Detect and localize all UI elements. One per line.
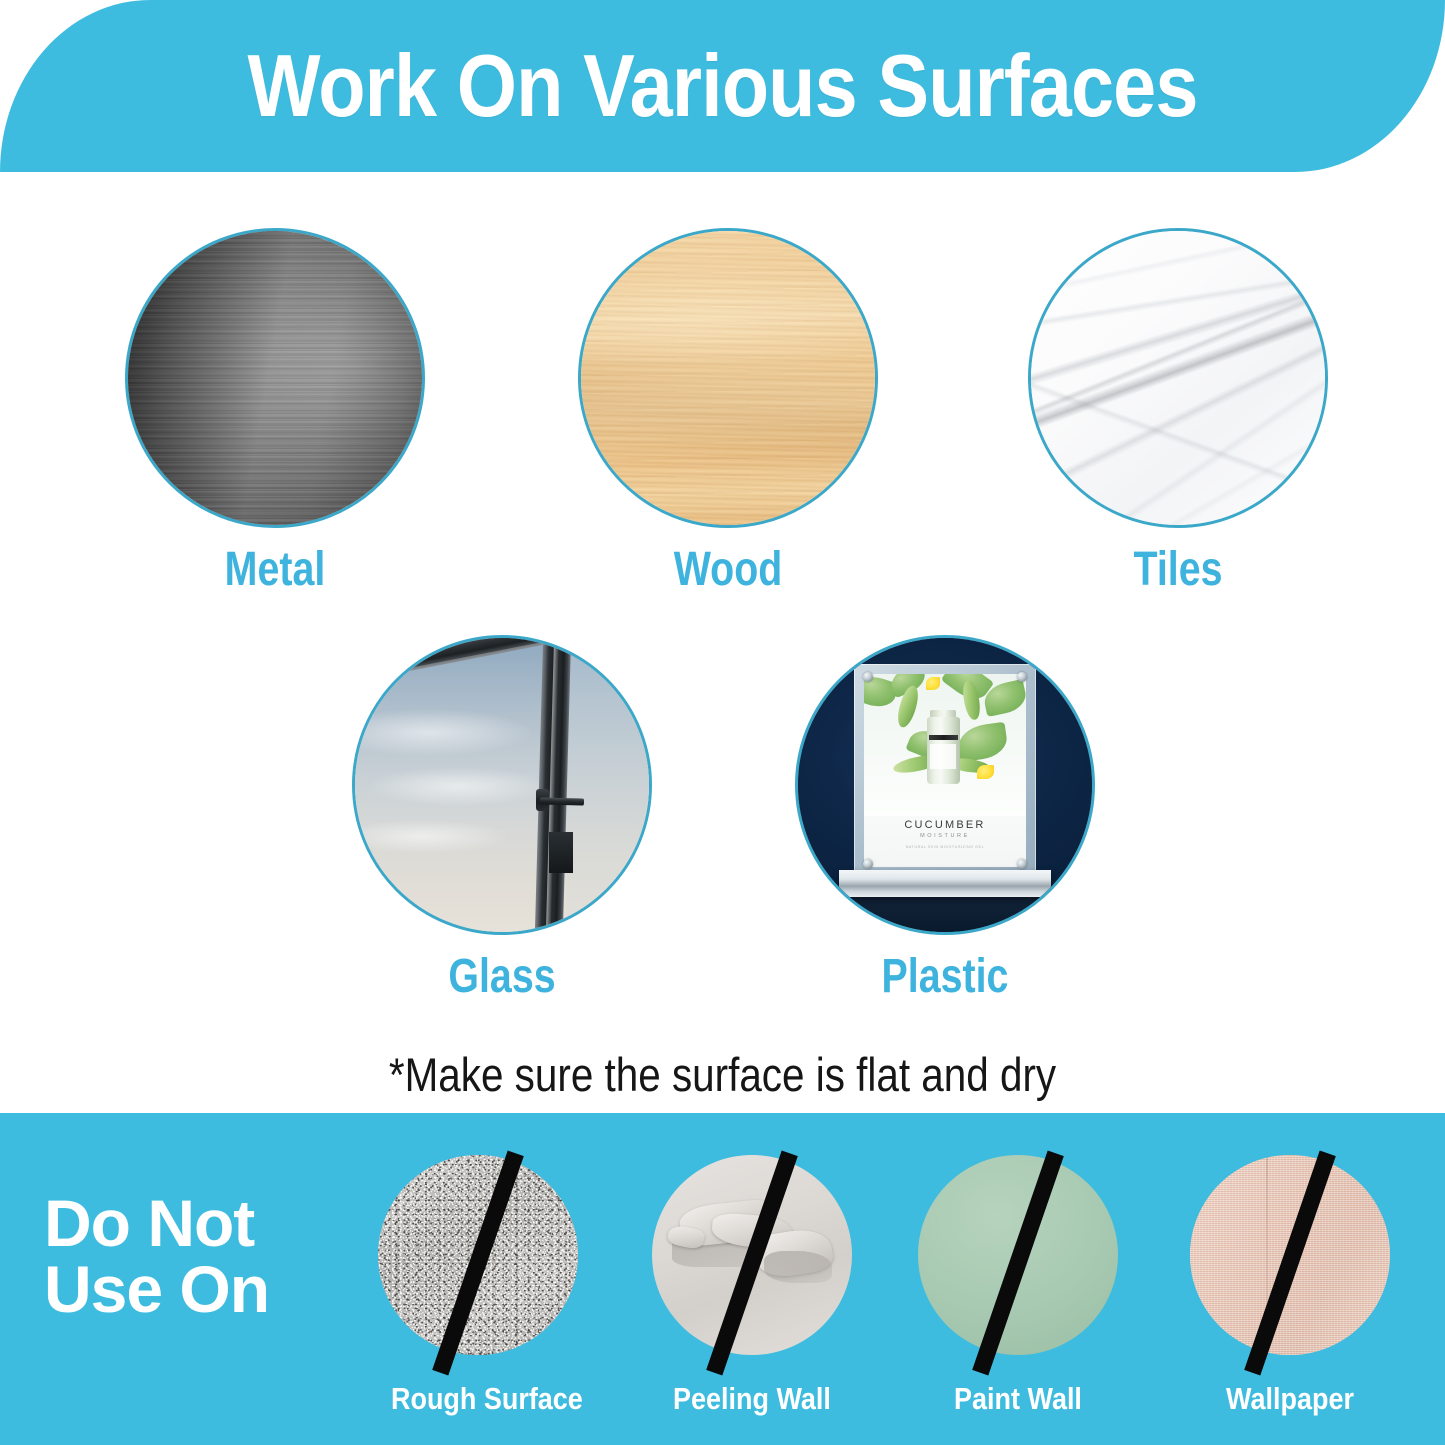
surface-label-metal: Metal <box>152 542 398 597</box>
surface-item-glass: Glass <box>352 635 652 1035</box>
surface-label-glass: Glass <box>379 949 625 1004</box>
surface-label-plastic: Plastic <box>822 949 1068 1004</box>
avoid-label-rough-surface: Rough Surface <box>391 1381 565 1417</box>
glass-texture <box>355 638 649 932</box>
surface-item-plastic: CUCUMBER MOISTURE NATURAL SKIN MOISTURIZ… <box>795 635 1095 1035</box>
acrylic-base-stand <box>839 870 1051 896</box>
cloud-wisp <box>367 767 549 805</box>
wood-circle-icon <box>578 228 878 528</box>
screw-icon <box>1017 859 1027 869</box>
avoid-label-wallpaper: Wallpaper <box>1203 1381 1377 1417</box>
poster-artwork <box>864 674 1026 817</box>
screw-icon <box>1017 672 1027 682</box>
avoid-item-paint-wall: Paint Wall <box>918 1155 1118 1425</box>
cloud-wisp <box>352 709 531 756</box>
lock-block <box>549 832 573 873</box>
surface-label-tiles: Tiles <box>1055 542 1301 597</box>
avoid-item-wallpaper: Wallpaper <box>1190 1155 1390 1425</box>
glass-right-pane <box>567 635 652 935</box>
cloud-wisp <box>352 820 508 852</box>
avoid-label-paint-wall: Paint Wall <box>931 1381 1105 1417</box>
poster-sheet: CUCUMBER MOISTURE NATURAL SKIN MOISTURIZ… <box>864 674 1026 867</box>
do-not-use-line2: Use On <box>44 1256 269 1322</box>
footnote-text: *Make sure the surface is flat and dry <box>101 1047 1344 1102</box>
page-title: Work On Various Surfaces <box>87 0 1359 172</box>
peel-shadow <box>764 1251 832 1283</box>
plastic-texture: CUCUMBER MOISTURE NATURAL SKIN MOISTURIZ… <box>798 638 1092 932</box>
plastic-circle-icon: CUCUMBER MOISTURE NATURAL SKIN MOISTURIZ… <box>795 635 1095 935</box>
metal-circle-icon <box>125 228 425 528</box>
leaf-shape <box>956 722 1009 763</box>
do-not-use-heading: Do Not Use On <box>44 1190 269 1322</box>
metal-texture <box>128 231 422 525</box>
avoid-label-peeling-wall: Peeling Wall <box>665 1381 839 1417</box>
avoid-item-peeling-wall: Peeling Wall <box>652 1155 852 1425</box>
marble-texture <box>1031 231 1325 525</box>
infographic-page: Work On Various Surfaces Metal Wood Tile… <box>0 0 1445 1445</box>
wood-texture <box>581 231 875 525</box>
poster-fineprint-text: NATURAL SKIN MOISTURIZING GEL <box>864 845 1026 849</box>
screw-icon <box>863 859 873 869</box>
bottle-band <box>929 735 958 740</box>
bottle-label <box>930 744 956 770</box>
header-banner: Work On Various Surfaces <box>0 0 1445 172</box>
door-handle-icon <box>540 798 584 806</box>
flower-shape <box>926 677 941 690</box>
tiles-circle-icon <box>1028 228 1328 528</box>
acrylic-sign-holder: CUCUMBER MOISTURE NATURAL SKIN MOISTURIZ… <box>854 664 1036 876</box>
avoid-item-rough-surface: Rough Surface <box>378 1155 578 1425</box>
flower-shape <box>977 765 993 779</box>
surface-item-wood: Wood <box>578 228 878 628</box>
surface-label-wood: Wood <box>605 542 851 597</box>
surface-item-metal: Metal <box>125 228 425 628</box>
do-not-use-line1: Do Not <box>44 1190 269 1256</box>
surface-item-tiles: Tiles <box>1028 228 1328 628</box>
poster-subtitle-text: MOISTURE <box>864 833 1026 839</box>
glass-circle-icon <box>352 635 652 935</box>
poster-brand-text: CUCUMBER <box>864 819 1026 831</box>
